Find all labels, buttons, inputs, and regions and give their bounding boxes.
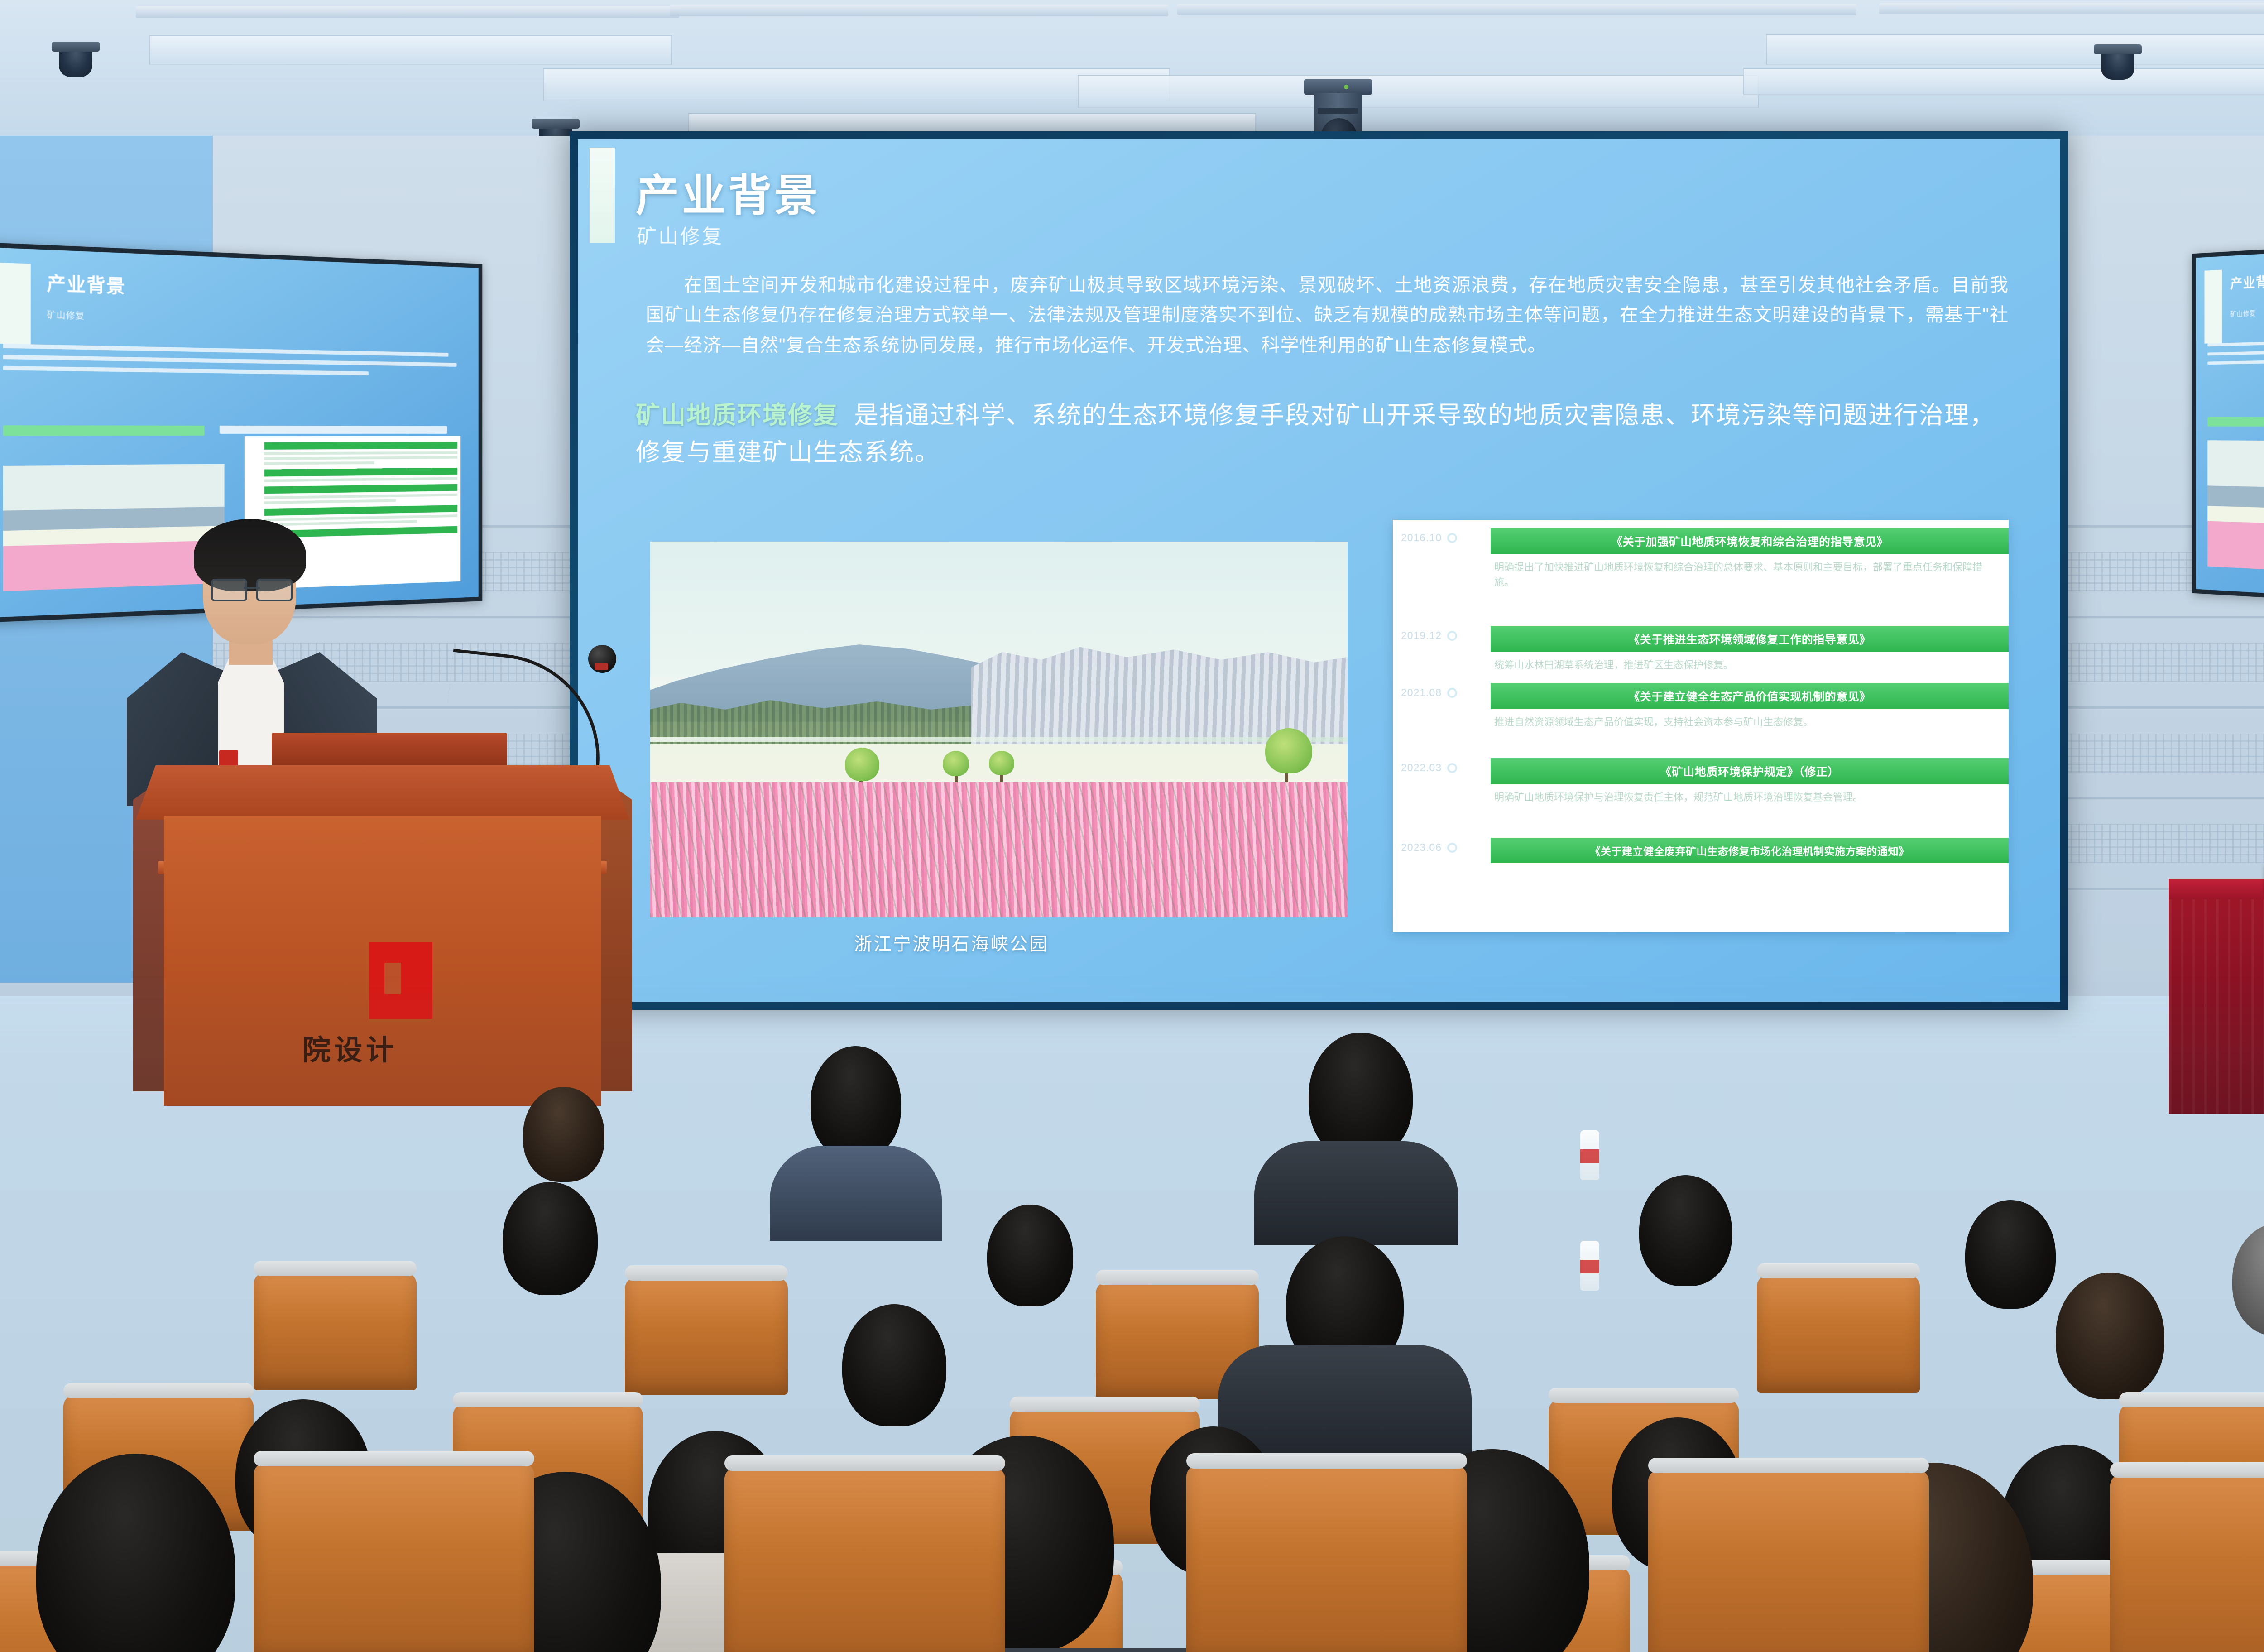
slide-definition: 矿山地质环境修复是指通过科学、系统的生态环境修复手段对矿山开采导致的地质灾害隐患…: [636, 397, 2012, 471]
auditorium-seat[interactable]: [1186, 1465, 1467, 1652]
auditorium-seat[interactable]: [1648, 1470, 1929, 1652]
policy-banner: 《关于建立健全废弃矿山生态修复市场化治理机制实施方案的通知》: [1491, 838, 2009, 863]
auditorium-seat[interactable]: [724, 1467, 1005, 1652]
timeline-dot-icon: [1447, 688, 1457, 698]
policy-date: 2016.10: [1401, 532, 1442, 544]
policy-date: 2022.03: [1401, 762, 1442, 774]
auditorium-seat[interactable]: [254, 1273, 417, 1390]
policy-date: 2019.12: [1401, 629, 1442, 642]
policy-description: 推进自然资源领域生态产品价值实现，支持社会资本参与矿山生态修复。: [1494, 715, 1998, 730]
auditorium-seat[interactable]: [625, 1277, 788, 1395]
timeline-dot-icon: [1447, 631, 1457, 641]
policy-banner: 《关于建立健全生态产品价值实现机制的意见》: [1491, 683, 2009, 709]
policy-description: 统筹山水林田湖草系统治理，推进矿区生态保护修复。: [1494, 658, 1998, 672]
policy-date: 2021.08: [1401, 687, 1442, 699]
timeline-dot-icon: [1447, 843, 1457, 853]
timeline-dot-icon: [1447, 763, 1457, 773]
policy-date: 2023.06: [1401, 841, 1442, 854]
presentation-slide: 产业背景 矿山修复 在国土空间开发和城市化建设过程中，废弃矿山极其导致区域环境污…: [578, 139, 2060, 1002]
slide-body-paragraph: 在国土空间开发和城市化建设过程中，废弃矿山极其导致区域环境污染、景观破坏、土地资…: [646, 270, 2009, 360]
policy-banner: 《关于推进生态环境领域修复工作的指导意见》: [1491, 626, 2009, 652]
slide-policy-timeline-panel: 2016.10 《关于加强矿山地质环境恢复和综合治理的指导意见》 明确提出了加快…: [1393, 520, 2009, 932]
policy-row: 2023.06 《关于建立健全废弃矿山生态修复市场化治理机制实施方案的通知》: [1393, 838, 2009, 869]
ceiling-downlight-icon: [59, 45, 92, 77]
water-bottle: [1580, 1130, 1599, 1180]
policy-row: 2021.08 《关于建立健全生态产品价值实现机制的意见》 推进自然资源领域生态…: [1393, 683, 2009, 755]
policy-row: 2019.12 《关于推进生态环境领域修复工作的指导意见》 统筹山水林田湖草系统…: [1393, 626, 2009, 680]
policy-banner: 《矿山地质环境保护规定》（修正）: [1491, 758, 2009, 784]
ceiling-downlight-icon: [2101, 48, 2134, 80]
policy-banner: 《关于加强矿山地质环境恢复和综合治理的指导意见》: [1491, 528, 2009, 554]
main-projection-screen[interactable]: 产业背景 矿山修复 在国土空间开发和城市化建设过程中，废弃矿山极其导致区域环境污…: [570, 131, 2068, 1010]
water-bottle: [1580, 1241, 1599, 1291]
glasses-icon: [211, 579, 293, 599]
policy-description: 明确矿山地质环境保护与治理恢复责任主体，规范矿山地质环境治理恢复基金管理。: [1494, 790, 1998, 805]
auditorium-seat[interactable]: [2110, 1474, 2264, 1652]
auditorium-seat[interactable]: [1757, 1275, 1920, 1393]
auditorium-seat[interactable]: [254, 1463, 534, 1652]
mini-slide-subtitle-right: 矿山修复: [2230, 308, 2256, 318]
audience-area: [0, 974, 2264, 1652]
slide-photo-mine-restoration: [650, 542, 1348, 917]
timeline-dot-icon: [1447, 533, 1457, 543]
slide-title: 产业背景: [636, 160, 820, 223]
policy-row: 2022.03 《矿山地质环境保护规定》（修正） 明确矿山地质环境保护与治理恢复…: [1393, 758, 2009, 835]
definition-highlight: 矿山地质环境修复: [636, 402, 839, 429]
mini-slide-title: 产业背景: [47, 268, 126, 298]
ceiling: [0, 0, 2264, 149]
right-side-display: 产业背景 矿山修复: [2192, 234, 2264, 612]
slide-photo-caption: 浙江宁波明石海峡公园: [854, 929, 1049, 956]
slide-subtitle: 矿山修复: [637, 220, 724, 249]
title-accent-bar: [590, 148, 615, 243]
policy-row: 2016.10 《关于加强矿山地质环境恢复和综合治理的指导意见》 明确提出了加快…: [1393, 528, 2009, 623]
mini-slide-title-right: 产业背景: [2230, 270, 2264, 292]
mini-slide-subtitle: 矿山修复: [47, 308, 85, 322]
policy-description: 明确提出了加快推进矿山地质环境恢复和综合治理的总体要求、基本原则和主要目标，部署…: [1494, 560, 1998, 590]
screenshot-root: 产业背景 矿山修复: [0, 0, 2264, 1652]
definition-text: 是指通过科学、系统的生态环境修复手段对矿山开采导致的地质灾害隐患、环境污染等问题…: [636, 402, 1995, 466]
